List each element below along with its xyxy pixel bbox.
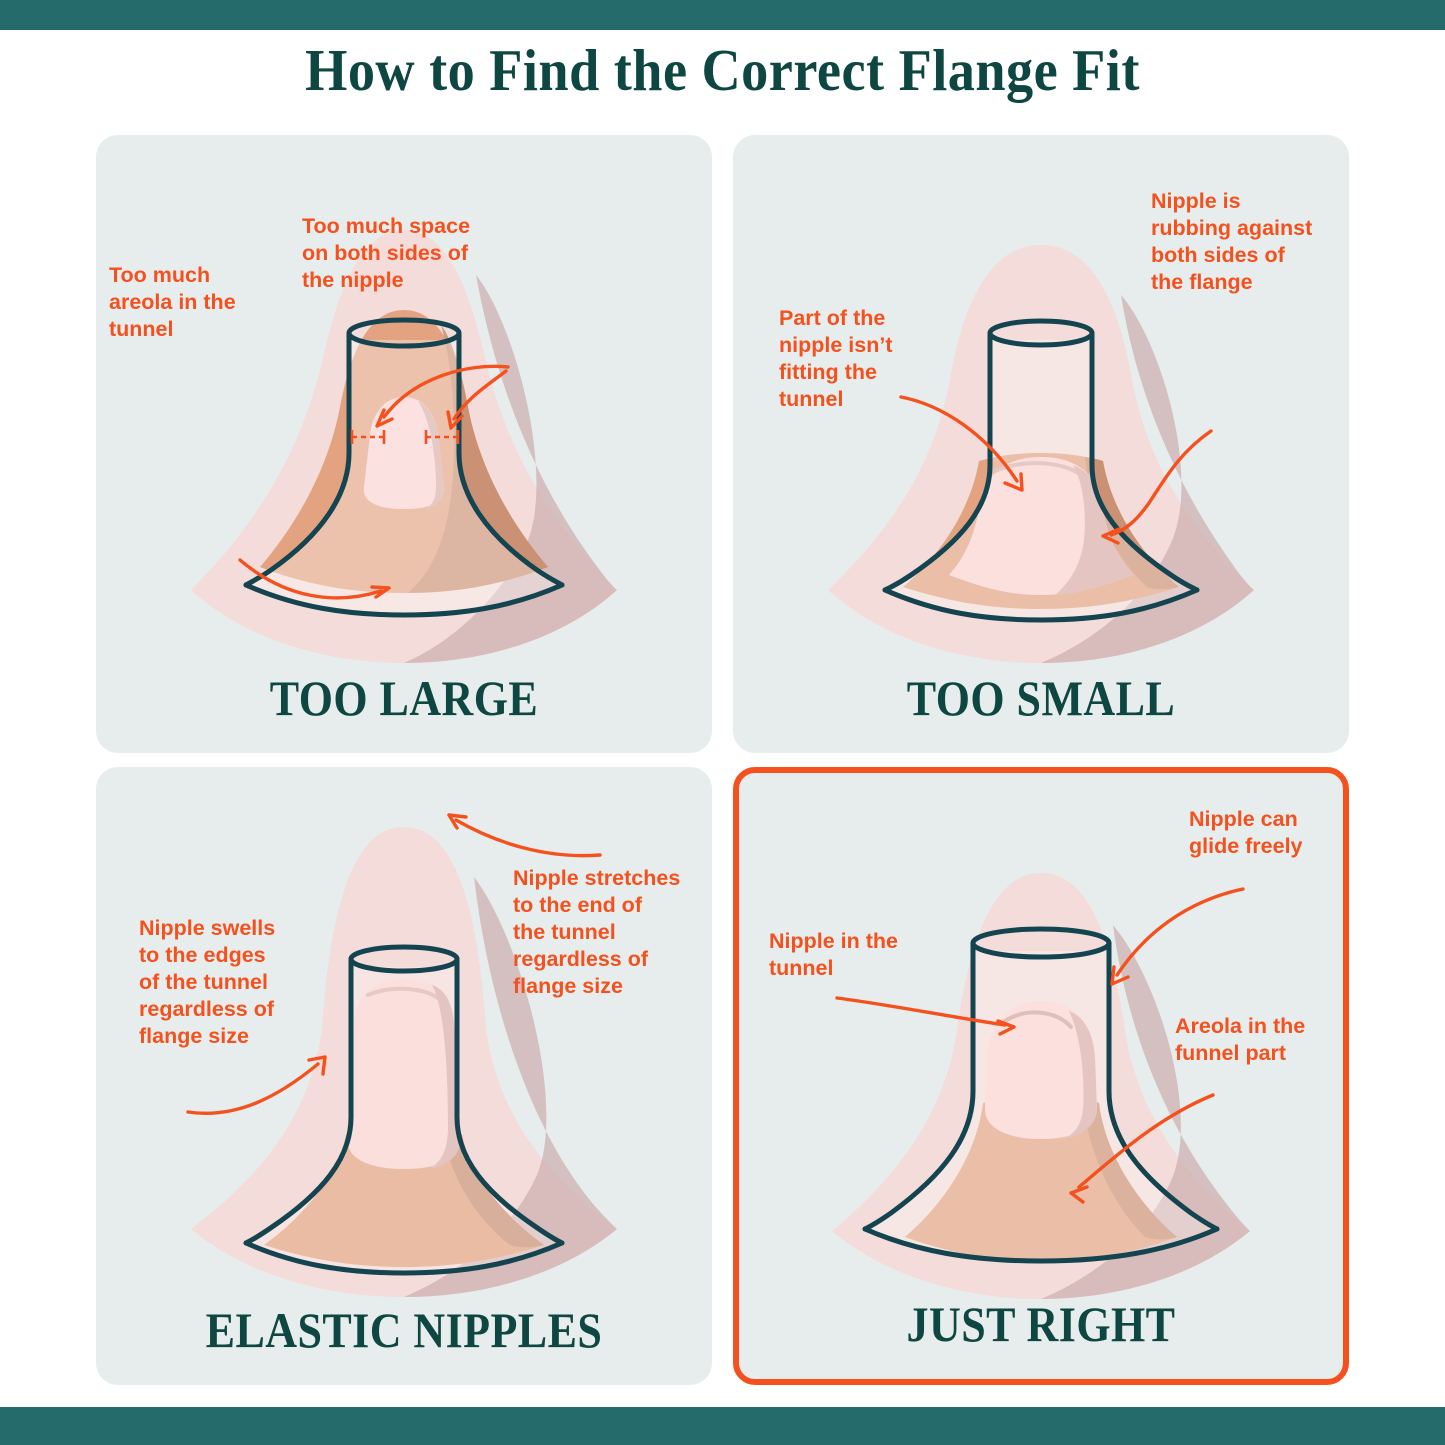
panel-too-large[interactable]: Too much space on both sides of the nipp… xyxy=(96,135,712,753)
flange-illustration-too-small: Nipple is rubbing against both sides of … xyxy=(733,135,1349,753)
annotation-nipple-swells: Nipple swells to the edges of the tunnel… xyxy=(139,916,281,1048)
infographic-page: How to Find the Correct Flange Fit xyxy=(0,0,1445,1445)
panel-title-just-right: JUST RIGHT xyxy=(775,1295,1307,1353)
page-title: How to Find the Correct Flange Fit xyxy=(58,36,1387,105)
annotation-areola-in-funnel: Areola in the funnel part xyxy=(1175,1014,1311,1065)
flange-illustration-too-large: Too much space on both sides of the nipp… xyxy=(96,135,712,753)
panel-too-small[interactable]: Nipple is rubbing against both sides of … xyxy=(733,135,1349,753)
panel-grid: Too much space on both sides of the nipp… xyxy=(96,135,1349,1385)
annotation-nipple-rubbing: Nipple is rubbing against both sides of … xyxy=(1151,189,1318,294)
panel-just-right[interactable]: Nipple can glide freely Nipple in the tu… xyxy=(733,767,1349,1385)
flange-illustration-just-right: Nipple can glide freely Nipple in the tu… xyxy=(739,773,1343,1379)
annotation-nipple-glide: Nipple can glide freely xyxy=(1189,807,1304,858)
top-accent-bar xyxy=(0,0,1445,30)
panel-title-too-large: TOO LARGE xyxy=(133,669,675,727)
flange-glass-body xyxy=(865,951,1217,1259)
arrow-nipple-stretches xyxy=(449,815,600,856)
bottom-accent-bar xyxy=(0,1407,1445,1445)
panel-title-too-small: TOO SMALL xyxy=(770,669,1312,727)
annotation-too-much-areola: Too much areola in the tunnel xyxy=(109,263,242,341)
annotation-nipple-stretches: Nipple stretches to the end of the tunne… xyxy=(513,866,686,998)
annotation-nipple-not-fitting: Part of the nipple isn’t fitting the tun… xyxy=(779,306,898,411)
panel-title-elastic-nipples: ELASTIC NIPPLES xyxy=(133,1301,675,1359)
annotation-nipple-in-tunnel: Nipple in the tunnel xyxy=(769,929,904,980)
flange-illustration-elastic: Nipple stretches to the end of the tunne… xyxy=(96,767,712,1385)
panel-elastic-nipples[interactable]: Nipple stretches to the end of the tunne… xyxy=(96,767,712,1385)
